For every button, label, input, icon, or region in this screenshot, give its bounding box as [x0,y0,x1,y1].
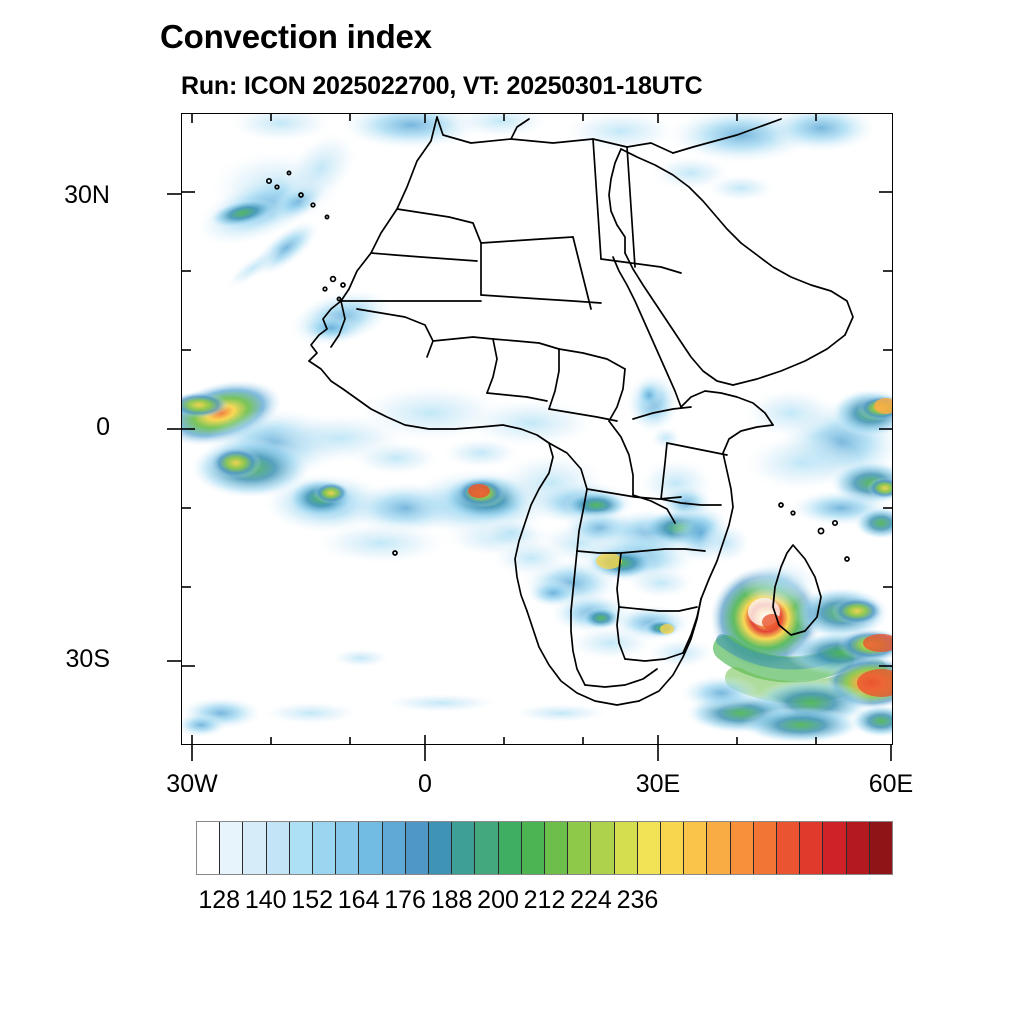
colorbar-cell [591,822,614,874]
x-tick-label-60e: 60E [831,770,951,799]
x-tick-label-30e: 30E [598,770,718,799]
page-title: Convection index [160,18,432,56]
colorbar-cell [754,822,777,874]
colorbar-cell [870,822,892,874]
page-subtitle: Run: ICON 2025022700, VT: 20250301-18UTC [181,72,702,101]
y-tick-label-0: 0 [20,413,110,442]
y-tick-label-30s: 30S [20,645,110,674]
x-tick-label-30w: 30W [132,770,252,799]
colorbar-cell [383,822,406,874]
colorbar-cell [823,822,846,874]
colorbar-cell [661,822,684,874]
map-plot-area [181,113,893,745]
colorbar-cell [336,822,359,874]
colorbar-cell [429,822,452,874]
colorbar-cell [684,822,707,874]
x-tick-label-0: 0 [365,770,485,799]
colorbar-cell [800,822,823,874]
colorbar[interactable] [196,821,893,875]
colorbar-cell [359,822,382,874]
colorbar-cell [568,822,591,874]
colorbar-cell [638,822,661,874]
colorbar-cell [475,822,498,874]
figure-root: Convection index Run: ICON 2025022700, V… [0,0,1024,1024]
colorbar-cell [197,822,220,874]
colorbar-cell [847,822,870,874]
colorbar-cell [545,822,568,874]
colorbar-cell [777,822,800,874]
colorbar-cell [406,822,429,874]
colorbar-cell [522,822,545,874]
colorbar-cell [615,822,638,874]
map-canvas [181,113,893,745]
colorbar-tick-label: 236 [592,886,682,915]
colorbar-cell [707,822,730,874]
colorbar-cell [220,822,243,874]
colorbar-cell [267,822,290,874]
colorbar-cell [313,822,336,874]
y-tick-label-30n: 30N [20,181,110,210]
colorbar-cell [452,822,475,874]
colorbar-cell [731,822,754,874]
colorbar-cell [499,822,522,874]
colorbar-cell [243,822,266,874]
colorbar-cell [290,822,313,874]
